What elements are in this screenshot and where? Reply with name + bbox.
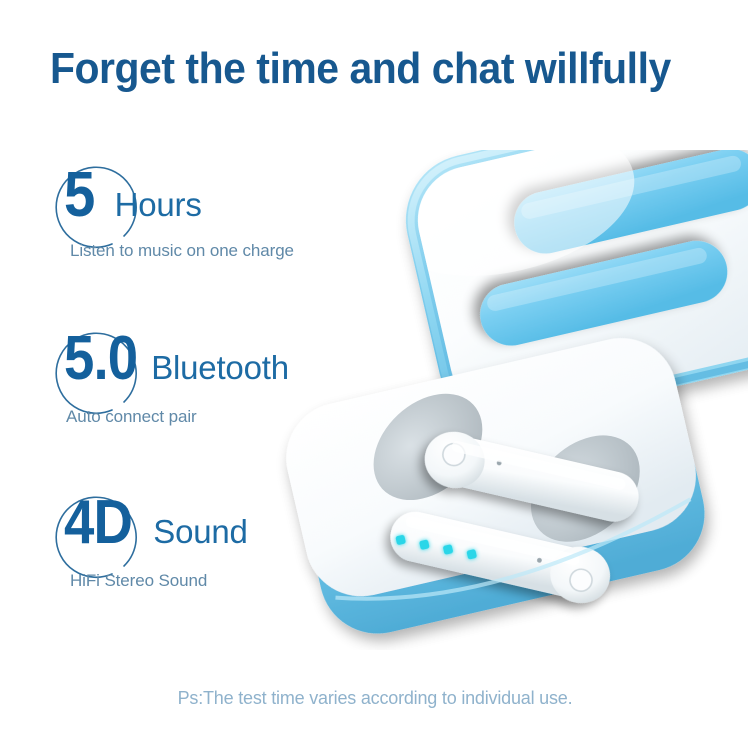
feature-headline: 5.0 Bluetooth (48, 328, 289, 404)
feature-name: Hours (115, 188, 202, 221)
case-base (274, 322, 722, 650)
page-title: Forget the time and chat willfully (50, 44, 671, 94)
product-marketing-poster: Forget the time and chat willfully (0, 0, 750, 750)
feature-subtitle: Listen to music on one charge (48, 241, 294, 261)
feature-headline: 5 Hours (48, 162, 294, 238)
feature-block-bluetooth: 5.0 Bluetooth Auto connect pair (48, 328, 289, 427)
feature-number: 5 (64, 162, 94, 226)
feature-number: 5.0 (64, 328, 137, 390)
feature-block-sound: 4D Sound HiFi Stereo Sound (48, 492, 248, 591)
feature-subtitle: HiFi Stereo Sound (48, 571, 248, 591)
footnote-text: Ps:The test time varies according to ind… (0, 688, 750, 709)
feature-number: 4D (64, 492, 132, 554)
feature-subtitle: Auto connect pair (48, 407, 289, 427)
feature-name: Bluetooth (151, 351, 289, 384)
product-image (268, 150, 748, 650)
feature-name: Sound (153, 515, 247, 548)
feature-headline: 4D Sound (48, 492, 248, 568)
feature-block-hours: 5 Hours Listen to music on one charge (48, 162, 294, 261)
